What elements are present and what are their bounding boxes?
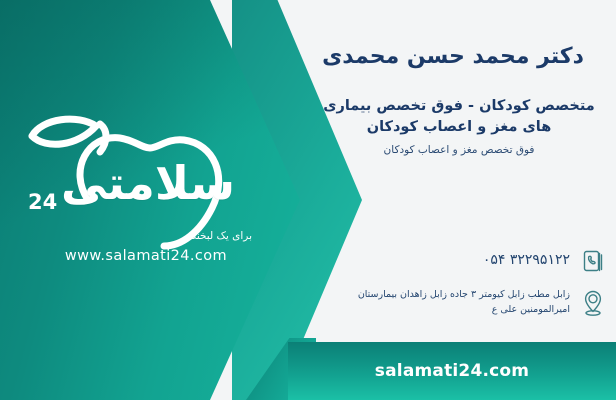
phone-number: ۳۲۲۹۵۱۲۲ ۰۵۴	[483, 246, 570, 271]
doctor-name: دکتر محمد حسن محمدی	[300, 44, 606, 69]
footer-bar: salamati24.com	[288, 342, 616, 400]
phonebook-icon	[580, 246, 606, 276]
clinic-address: زابل مطب زابل کیومتر ۳ جاده زابل زاهدان …	[314, 288, 570, 317]
card-content: دکتر محمد حسن محمدی متخصص کودکان - فوق ت…	[300, 0, 616, 342]
doctor-specialty-subtitle: فوق تخصص مغز و اعصاب کودکان	[320, 143, 598, 158]
phone-row[interactable]: ۳۲۲۹۵۱۲۲ ۰۵۴	[330, 246, 606, 276]
business-card: سلامتی 24 برای یک لبخند www.salamati24.c…	[0, 0, 616, 400]
location-pin-icon	[580, 288, 606, 318]
logo-tagline: برای یک لبخند	[191, 230, 252, 242]
brand-logo: سلامتی 24 برای یک لبخند www.salamati24.c…	[16, 104, 266, 274]
doctor-specialty: متخصص کودکان - فوق تخصص بیماری های مغز و…	[320, 96, 598, 138]
logo-24-badge: 24	[28, 190, 57, 214]
logo-wordmark: سلامتی	[42, 160, 254, 206]
logo-website-url: www.salamati24.com	[46, 248, 246, 264]
address-row[interactable]: زابل مطب زابل کیومتر ۳ جاده زابل زاهدان …	[314, 288, 606, 318]
footer-website[interactable]: salamati24.com	[375, 361, 529, 381]
